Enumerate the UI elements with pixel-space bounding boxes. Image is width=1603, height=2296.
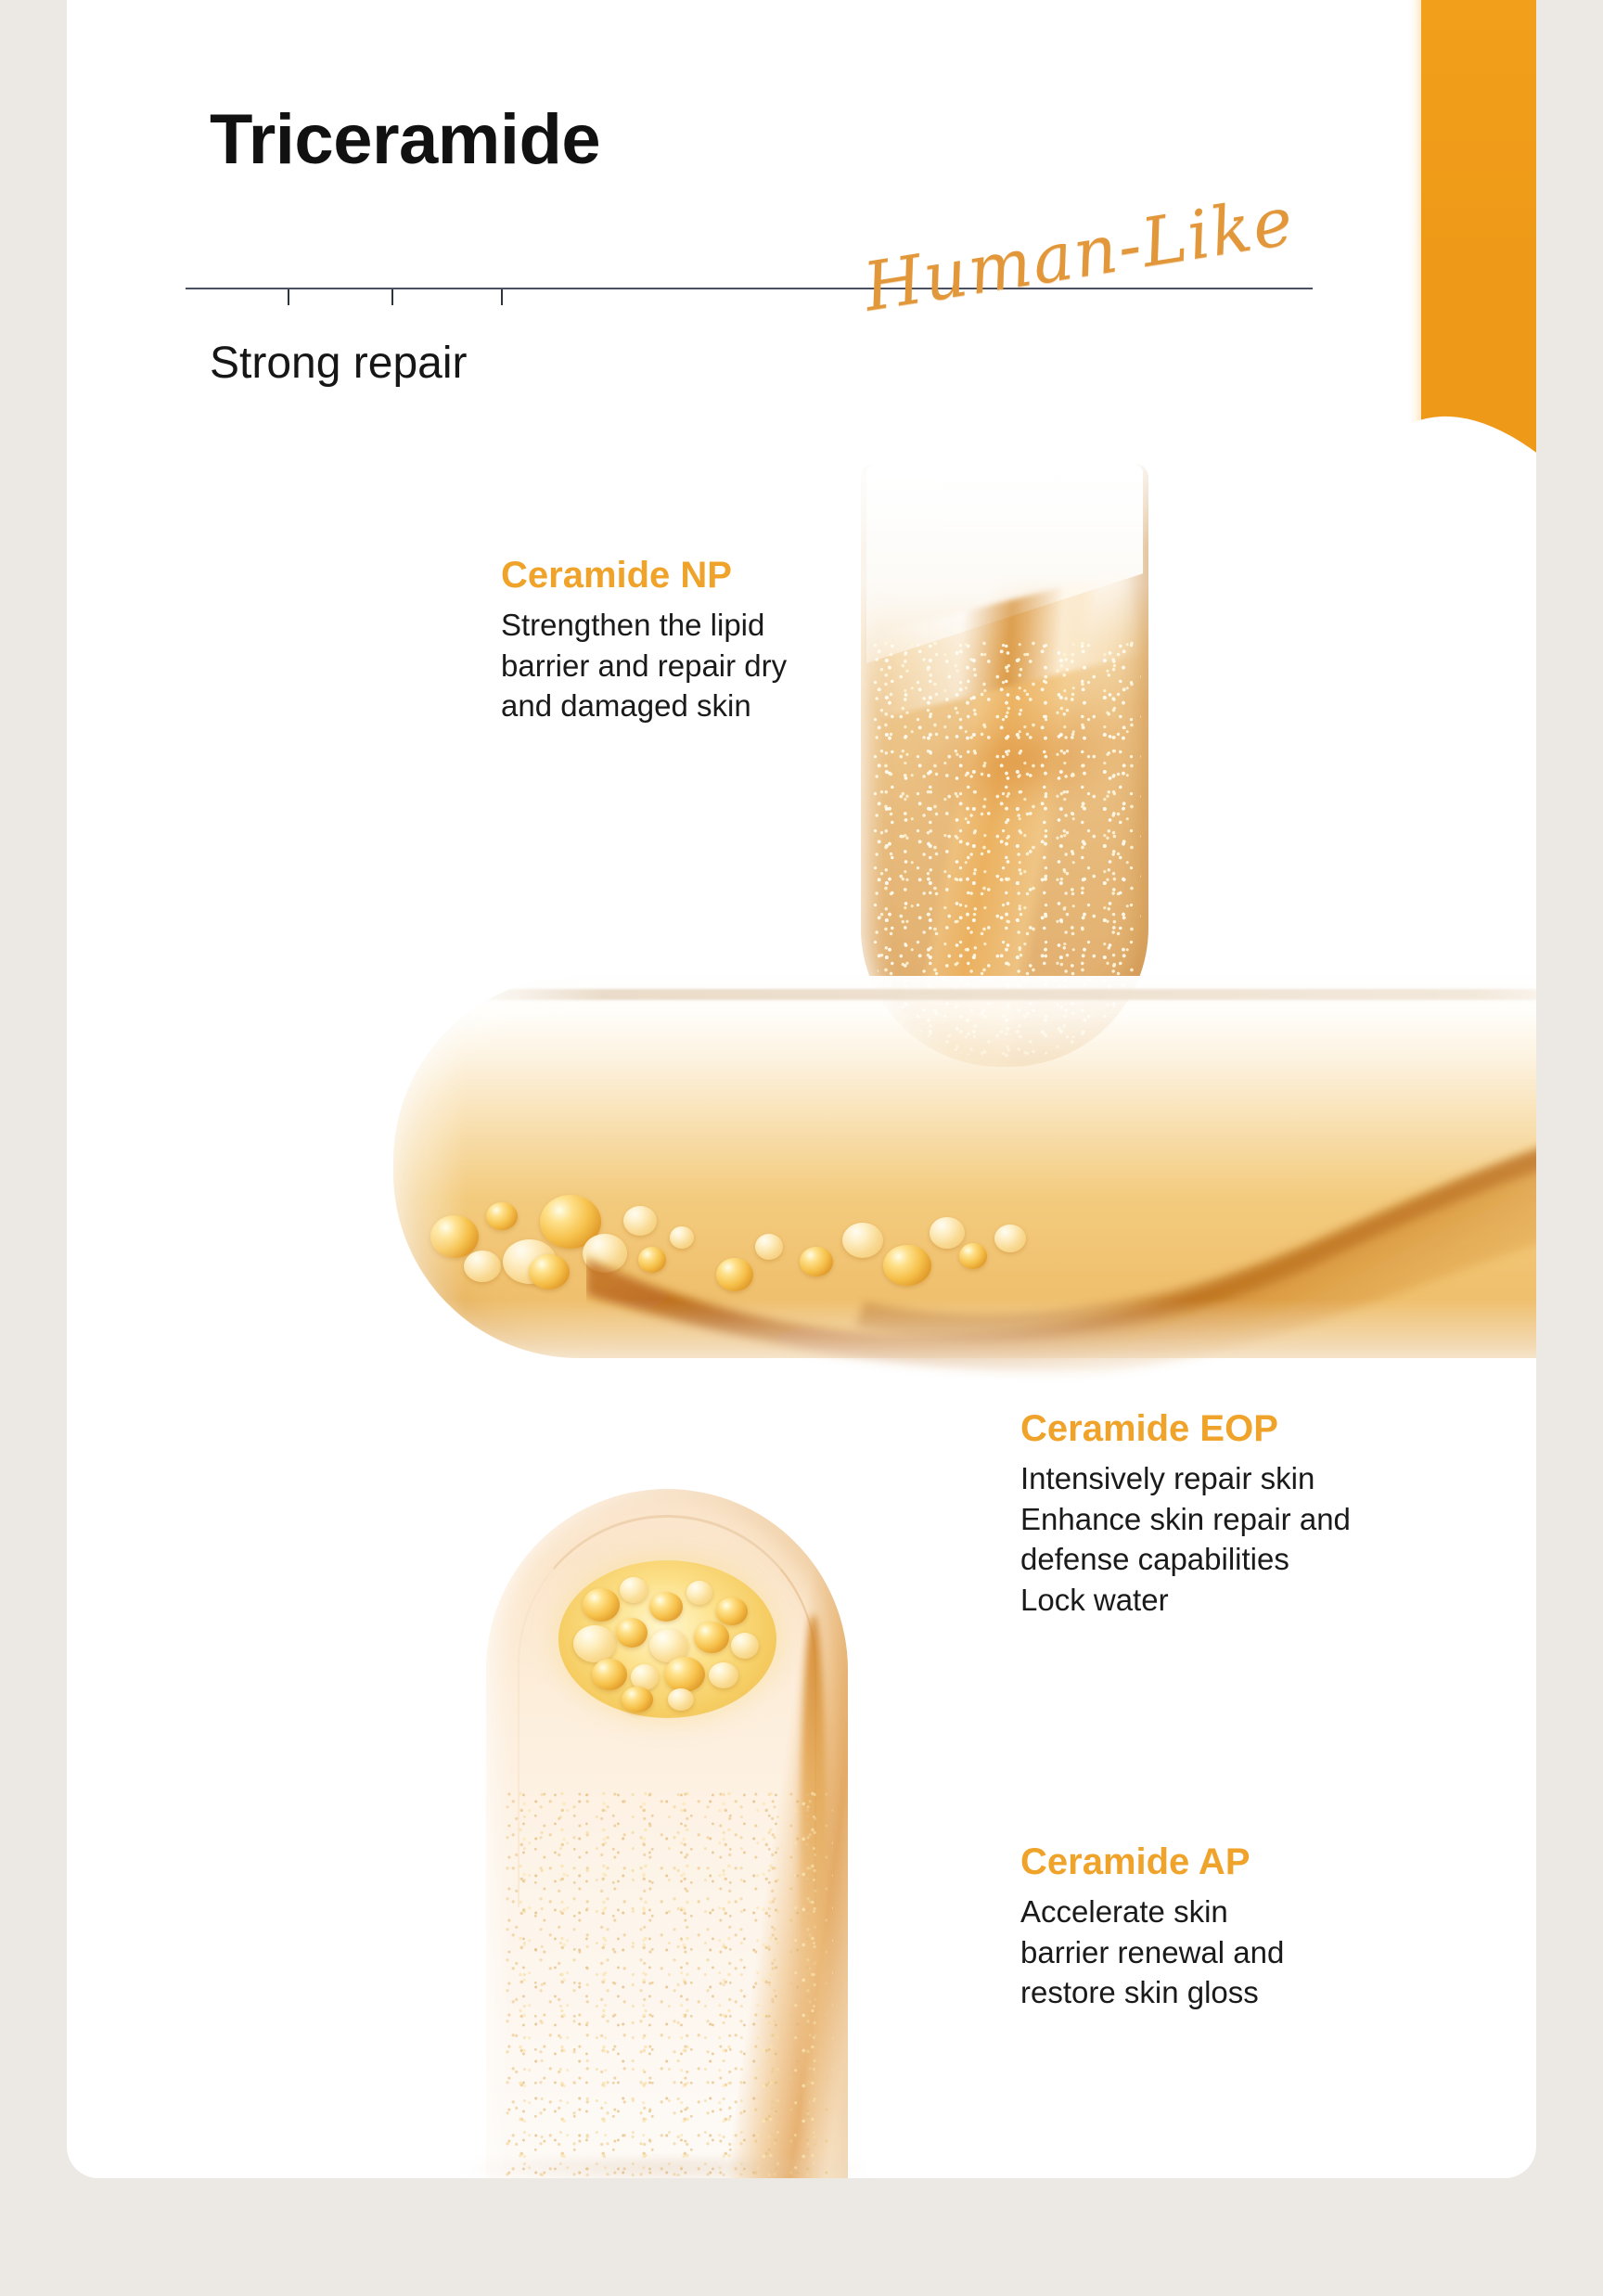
ingredient-desc-line: Lock water [1020,1580,1456,1621]
orange-corner-band [1421,0,1536,501]
ingredient-desc-line: Accelerate skin [1020,1892,1438,1932]
product-card: Triceramide Strong repair Human-Like Cer… [67,0,1536,2178]
ingredient-block-eop: Ceramide EOP Intensively repair skin Enh… [1020,1408,1456,1620]
capsule-drop-shadow [468,2158,866,2178]
ingredient-desc-line: Enhance skin repair and [1020,1499,1456,1540]
capsule-amber-rim [800,1614,827,2171]
ingredient-block-ap: Ceramide AP Accelerate skin barrier rene… [1020,1841,1438,2013]
ingredient-desc-line: restore skin gloss [1020,1972,1438,2013]
ingredient-desc-line: and damaged skin [501,686,909,726]
horizontal-ampoule-image [393,976,1536,1358]
ruler-tick [501,289,503,305]
ingredient-desc-line: barrier and repair dry [501,646,909,686]
page-title: Triceramide [210,105,600,175]
page-subtitle: Strong repair [210,341,467,386]
ingredient-desc-line: defense capabilities [1020,1539,1456,1580]
ingredient-desc-np: Strengthen the lipid barrier and repair … [501,605,909,726]
poster-page: Triceramide Strong repair Human-Like Cer… [0,0,1603,2296]
ingredient-title-np: Ceramide NP [501,555,909,596]
ingredient-desc-line: Intensively repair skin [1020,1458,1456,1499]
ruler-tick [391,289,393,305]
ingredient-title-eop: Ceramide EOP [1020,1408,1456,1449]
ingredient-desc-line: Strengthen the lipid [501,605,909,646]
ruler-divider [186,288,1313,289]
ingredient-title-ap: Ceramide AP [1020,1841,1438,1882]
ruler-tick [288,289,289,305]
ingredient-desc-ap: Accelerate skin barrier renewal and rest… [1020,1892,1438,2013]
ingredient-desc-line: barrier renewal and [1020,1932,1438,1973]
ingredient-desc-eop: Intensively repair skin Enhance skin rep… [1020,1458,1456,1620]
ingredient-block-np: Ceramide NP Strengthen the lipid barrier… [501,555,909,726]
